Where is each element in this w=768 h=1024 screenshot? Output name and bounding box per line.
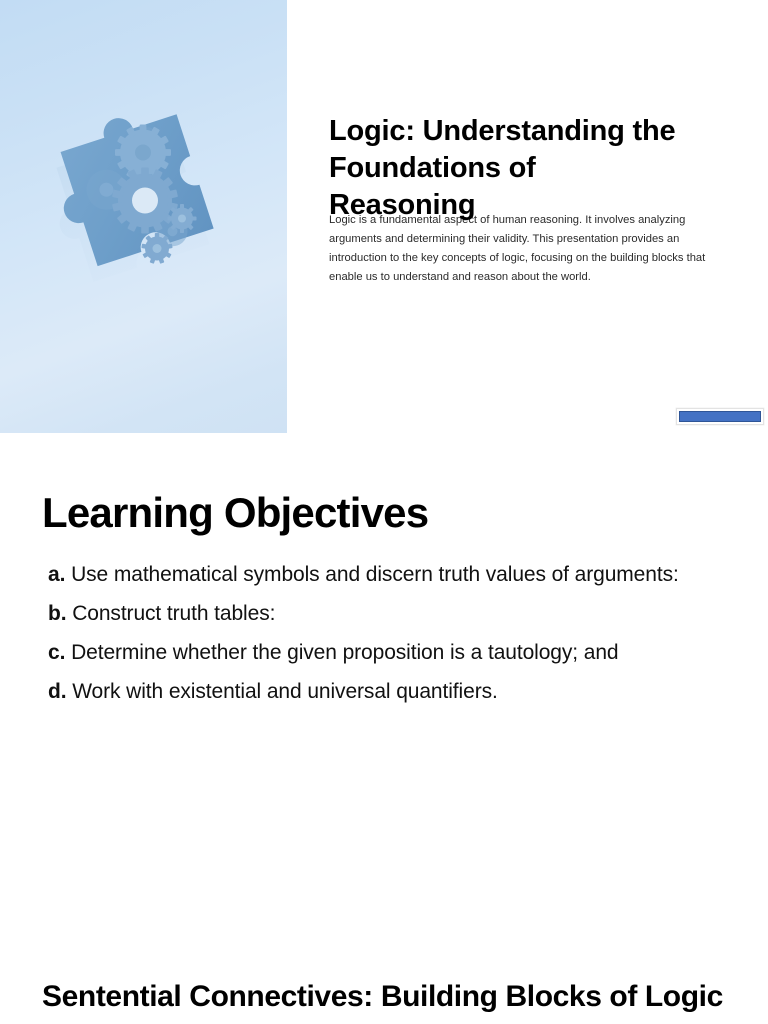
progress-chip-fill: [679, 411, 761, 422]
learning-objectives-slide: Learning Objectives a. Use mathematical …: [0, 434, 768, 868]
list-item-text: Construct truth tables:: [66, 602, 275, 625]
title-slide-text-column: Logic: Understanding the Foundations of …: [329, 0, 768, 433]
slide-deck: Logic: Understanding the Foundations of …: [0, 0, 768, 1024]
list-item-marker: b.: [48, 602, 66, 625]
list-item-text: Determine whether the given proposition …: [65, 641, 618, 664]
list-item-text: Use mathematical symbols and discern tru…: [65, 563, 678, 586]
list-item-marker: c.: [48, 641, 65, 664]
learning-objectives-heading: Learning Objectives: [42, 490, 428, 536]
list-item: c. Determine whether the given propositi…: [48, 642, 728, 663]
progress-chip-slide-1[interactable]: [676, 408, 764, 425]
list-item-text: Work with existential and universal quan…: [66, 680, 497, 703]
slide-title-heading: Logic: Understanding the Foundations of …: [329, 113, 689, 224]
list-item-marker: d.: [48, 680, 66, 703]
list-item: a. Use mathematical symbols and discern …: [48, 564, 728, 585]
list-item-marker: a.: [48, 563, 65, 586]
title-slide: Logic: Understanding the Foundations of …: [0, 0, 768, 434]
list-item: d. Work with existential and universal q…: [48, 681, 728, 702]
learning-objectives-list: a. Use mathematical symbols and discern …: [48, 564, 728, 720]
list-item: b. Construct truth tables:: [48, 603, 728, 624]
sentential-connectives-slide: Sentential Connectives: Building Blocks …: [0, 868, 768, 1024]
sentential-connectives-heading: Sentential Connectives: Building Blocks …: [42, 980, 723, 1014]
puzzle-piece-with-gears-image: [0, 0, 287, 433]
